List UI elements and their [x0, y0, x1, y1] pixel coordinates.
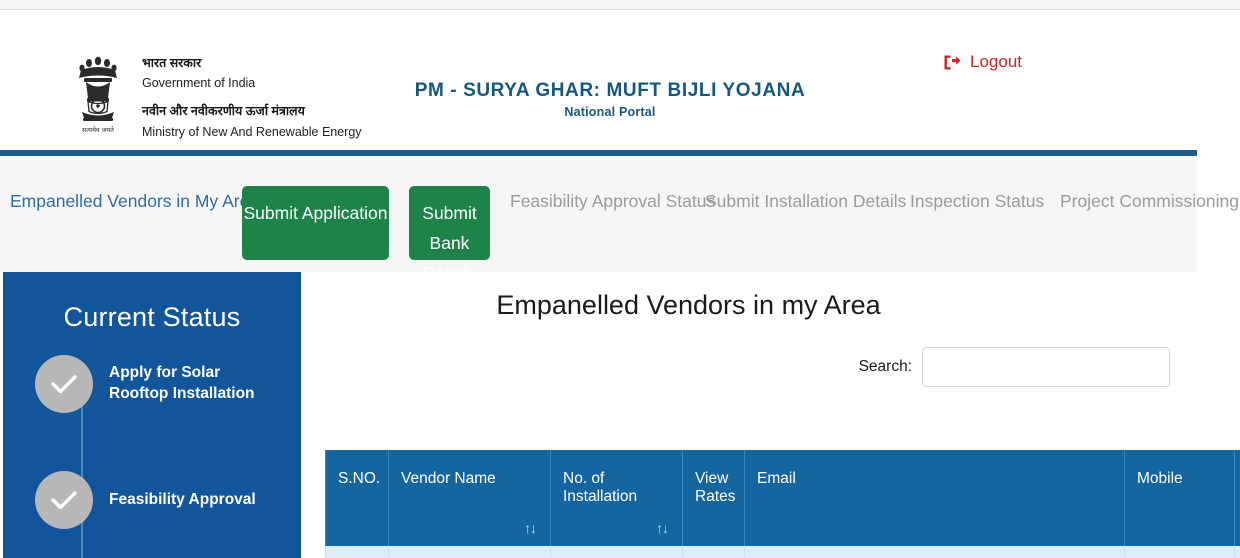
column-header-view-rates[interactable]: View Rates	[683, 450, 745, 546]
column-header-vendor-name[interactable]: Vendor Name ↑↓	[389, 450, 551, 546]
nav-item-inspection-status[interactable]: Inspection Status	[900, 186, 1050, 216]
page-header: सत्यमेव जयते भारत सरकार Government of In…	[0, 10, 1240, 150]
column-header-email[interactable]: Email	[745, 450, 1125, 546]
cell-view-rates[interactable]	[683, 546, 745, 558]
column-header-extra[interactable]	[1235, 450, 1240, 546]
nav-label: Inspection Status	[910, 191, 1044, 211]
column-label: View Rates	[695, 470, 736, 505]
nav-item-feasibility-approval-status[interactable]: Feasibility Approval Status	[500, 186, 695, 216]
vendors-table-head: S.NO. Vendor Name ↑↓ No. of Installation…	[326, 450, 1240, 546]
column-label: No. of Installation	[563, 470, 637, 505]
column-label: Email	[757, 470, 796, 487]
main-navigation: Empanelled Vendors in My Area Submit App…	[0, 150, 1197, 272]
status-steps-list: Apply for Solar Rooftop Installation Fea…	[25, 355, 279, 529]
search-row: Search:	[327, 347, 1240, 387]
table-row[interactable]: 11 ESUNTRIQ POWER OPC PVT LTD 0	[326, 546, 1240, 558]
page-body: Current Status Apply for Solar Rooftop I…	[0, 272, 1240, 558]
search-label: Search:	[859, 358, 912, 376]
government-english-label: Government of India	[142, 73, 362, 93]
column-header-sno[interactable]: S.NO.	[326, 450, 389, 546]
check-icon	[35, 471, 93, 529]
nav-label: Project Commissioning Status	[1060, 191, 1240, 211]
column-label: Vendor Name	[401, 470, 496, 487]
sidebar-title: Current Status	[25, 302, 279, 333]
government-hindi-label: भारत सरकार	[142, 54, 362, 73]
nav-label: Submit Application	[242, 198, 389, 228]
top-browser-strip	[0, 0, 1240, 10]
svg-text:सत्यमेव जयते: सत्यमेव जयते	[82, 126, 114, 134]
nav-item-submit-installation-details[interactable]: Submit Installation Details	[695, 186, 900, 216]
check-icon	[35, 355, 93, 413]
column-label: S.NO.	[338, 470, 380, 487]
ministry-english-label: Ministry of New And Renewable Energy	[142, 122, 362, 142]
cell-mobile: 7003249582	[1125, 546, 1235, 558]
cell-extra	[1235, 546, 1240, 558]
status-step-feasibility-approval[interactable]: Feasibility Approval	[35, 471, 279, 529]
cell-sno: 11	[326, 546, 389, 558]
nav-item-project-commissioning-status[interactable]: Project Commissioning Status	[1050, 186, 1240, 216]
sort-arrows-icon[interactable]: ↑↓	[656, 520, 668, 536]
sort-arrows-icon[interactable]: ↑↓	[524, 520, 536, 536]
cell-vendor-name[interactable]: ESUNTRIQ POWER OPC PVT LTD	[389, 546, 551, 558]
status-step-label: Feasibility Approval	[109, 490, 256, 511]
page-title: Empanelled Vendors in my Area	[327, 290, 1240, 321]
status-step-apply-for-solar-rooftop[interactable]: Apply for Solar Rooftop Installation	[35, 355, 279, 413]
cell-email: DIPANJAN.DAS@ESUNTRIQ.COM	[745, 546, 1125, 558]
column-header-no-of-installation[interactable]: No. of Installation ↑↓	[551, 450, 683, 546]
india-state-emblem-icon: सत्यमेव जयते	[72, 48, 124, 140]
nav-label: Empanelled Vendors in My Area	[10, 191, 259, 211]
column-label: Mobile	[1137, 470, 1183, 487]
government-identity-block: सत्यमेव जयते भारत सरकार Government of In…	[72, 48, 362, 142]
current-status-sidebar: Current Status Apply for Solar Rooftop I…	[3, 272, 301, 558]
cell-installations: 0	[551, 546, 683, 558]
vendors-table-container[interactable]: S.NO. Vendor Name ↑↓ No. of Installation…	[325, 450, 1240, 558]
status-step-label: Apply for Solar Rooftop Installation	[109, 363, 279, 405]
nav-item-submit-application[interactable]: Submit Application	[242, 186, 389, 260]
table-header-row: S.NO. Vendor Name ↑↓ No. of Installation…	[326, 450, 1240, 546]
nav-label: Submit Installation Details	[705, 191, 906, 211]
logout-button[interactable]: Logout	[943, 52, 1022, 72]
vendors-table-body: 11 ESUNTRIQ POWER OPC PVT LTD 0	[326, 546, 1240, 558]
nav-items-row: Empanelled Vendors in My Area Submit App…	[0, 156, 1197, 272]
nav-item-empanelled-vendors[interactable]: Empanelled Vendors in My Area	[0, 186, 232, 216]
nav-label: Feasibility Approval Status	[510, 191, 715, 211]
search-input[interactable]	[922, 347, 1170, 387]
logout-label: Logout	[970, 52, 1022, 72]
vendors-table: S.NO. Vendor Name ↑↓ No. of Installation…	[325, 450, 1240, 558]
sign-out-icon	[943, 54, 962, 71]
column-header-mobile[interactable]: Mobile	[1125, 450, 1235, 546]
ministry-hindi-label: नवीन और नवीकरणीय ऊर्जा मंत्रालय	[142, 102, 362, 121]
nav-item-submit-bank-details[interactable]: Submit Bank Details	[409, 186, 490, 260]
